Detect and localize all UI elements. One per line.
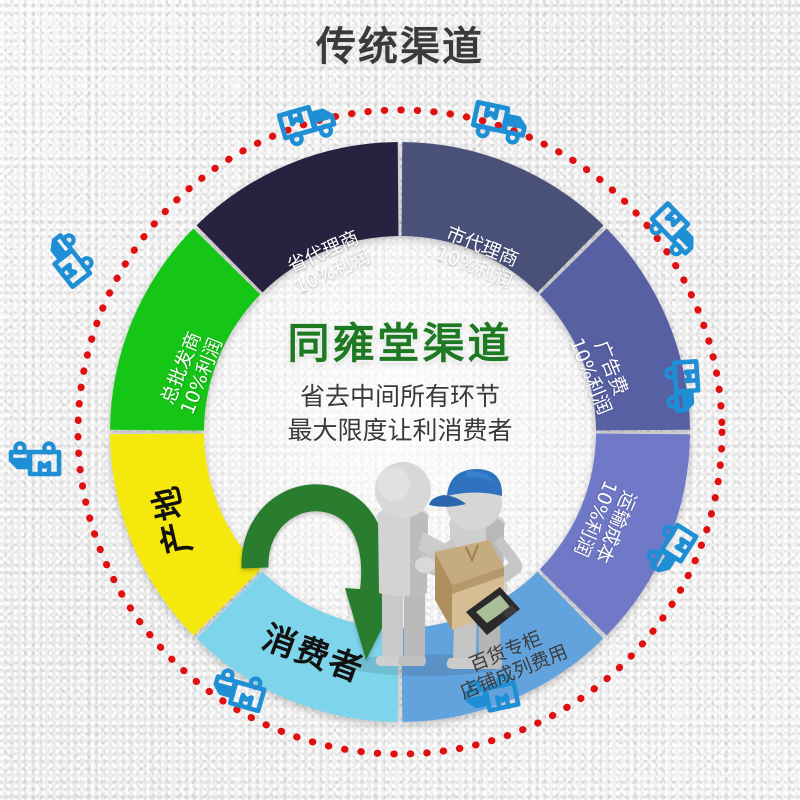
channel-donut-diagram: 省代理商 10%利润 市代理商 10%利润 广告费 10%利润 运输成本 10%… (0, 60, 800, 800)
delivery-truck-icon-9 (43, 230, 97, 287)
delivery-truck-icon-1 (279, 102, 336, 147)
diagram-svg (0, 60, 800, 800)
delivery-truck-icon-3 (646, 203, 701, 259)
delivery-truck-icon-8 (11, 443, 59, 474)
